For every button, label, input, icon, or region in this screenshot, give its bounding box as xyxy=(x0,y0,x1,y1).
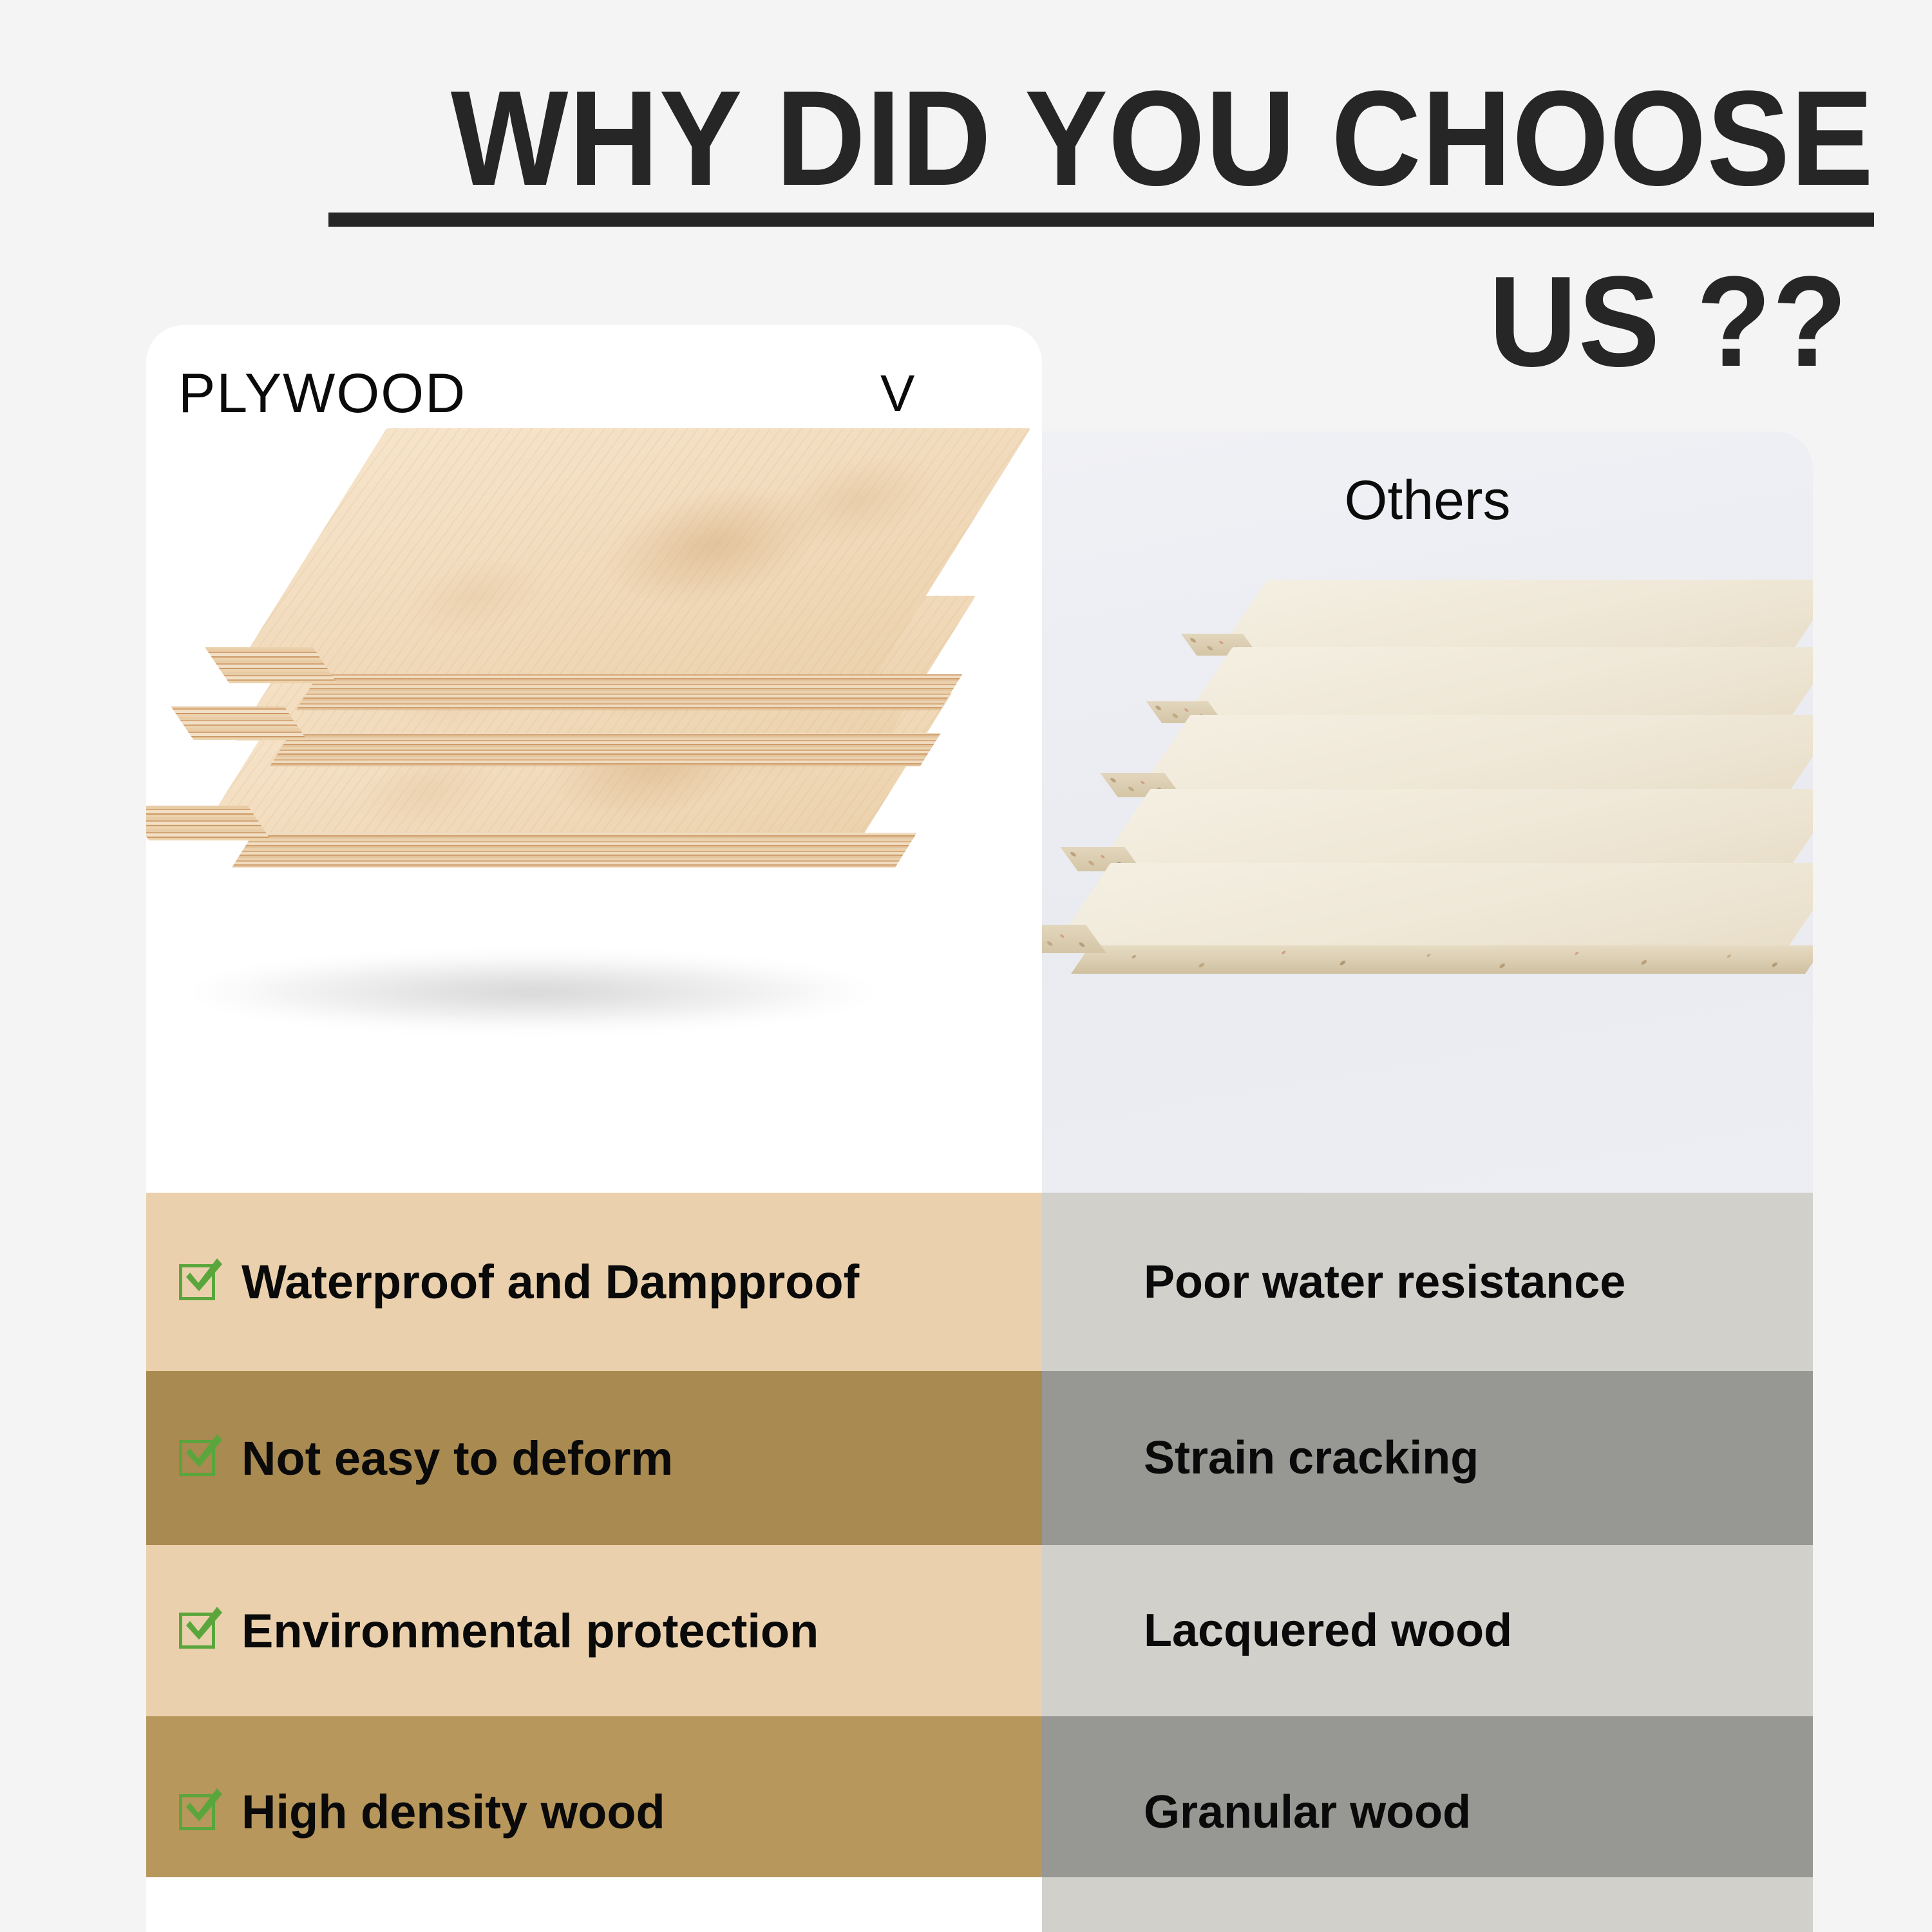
plywood-column-footer xyxy=(146,1877,1042,1932)
others-feature-cell-2: Strain cracking xyxy=(1042,1371,1813,1545)
table-row: Waterproof and Dampproof Poor water resi… xyxy=(146,1193,1813,1371)
plywood-badge-v: V xyxy=(880,364,914,423)
plywood-feature-cell-3: Environmental protection xyxy=(146,1545,1042,1716)
others-feature-cell-3: Lacquered wood xyxy=(1042,1545,1813,1716)
others-feature-label: Strain cracking xyxy=(1144,1432,1479,1484)
others-feature-label: Granular wood xyxy=(1144,1786,1471,1839)
table-row: Environmental protection Lacquered wood xyxy=(146,1545,1813,1716)
plywood-stack-shadow xyxy=(185,953,880,1030)
plywood-photo-panel: PLYWOOD V xyxy=(146,325,1042,1193)
plywood-feature-cell-1: Waterproof and Dampproof xyxy=(146,1193,1042,1371)
check-box-icon xyxy=(177,1606,222,1651)
others-column-footer xyxy=(1042,1877,1813,1932)
plywood-feature-label: Waterproof and Dampproof xyxy=(241,1255,859,1309)
page-title-line-1: WHY DID YOU CHOOSE xyxy=(150,71,1874,206)
plywood-sheets-photo xyxy=(146,402,1042,1162)
others-photo-panel: Others xyxy=(1042,431,1813,1193)
plywood-feature-label: Environmental protection xyxy=(241,1604,819,1658)
check-box-icon xyxy=(177,1788,222,1833)
plywood-feature-label: High density wood xyxy=(241,1785,665,1839)
others-feature-label: Lacquered wood xyxy=(1144,1604,1512,1657)
particleboard-sheets-photo xyxy=(1042,580,1813,1159)
plywood-column-label: PLYWOOD xyxy=(178,362,466,426)
title-underline-rule xyxy=(328,213,1874,227)
others-feature-cell-1: Poor water resistance xyxy=(1042,1193,1813,1371)
plywood-feature-label: Not easy to deform xyxy=(241,1431,673,1486)
feature-rows: Waterproof and Dampproof Poor water resi… xyxy=(146,1193,1813,1932)
others-feature-label: Poor water resistance xyxy=(1144,1256,1625,1309)
check-box-icon xyxy=(177,1434,222,1479)
plywood-feature-cell-2: Not easy to deform xyxy=(146,1371,1042,1545)
plywood-sheet-top xyxy=(230,428,958,705)
others-column-label: Others xyxy=(1042,469,1813,533)
check-box-icon xyxy=(177,1258,222,1303)
particleboard-sheet-5 xyxy=(1042,863,1813,976)
table-row: Not easy to deform Strain cracking xyxy=(146,1371,1813,1545)
comparison-board: PLYWOOD V xyxy=(146,325,1813,1932)
